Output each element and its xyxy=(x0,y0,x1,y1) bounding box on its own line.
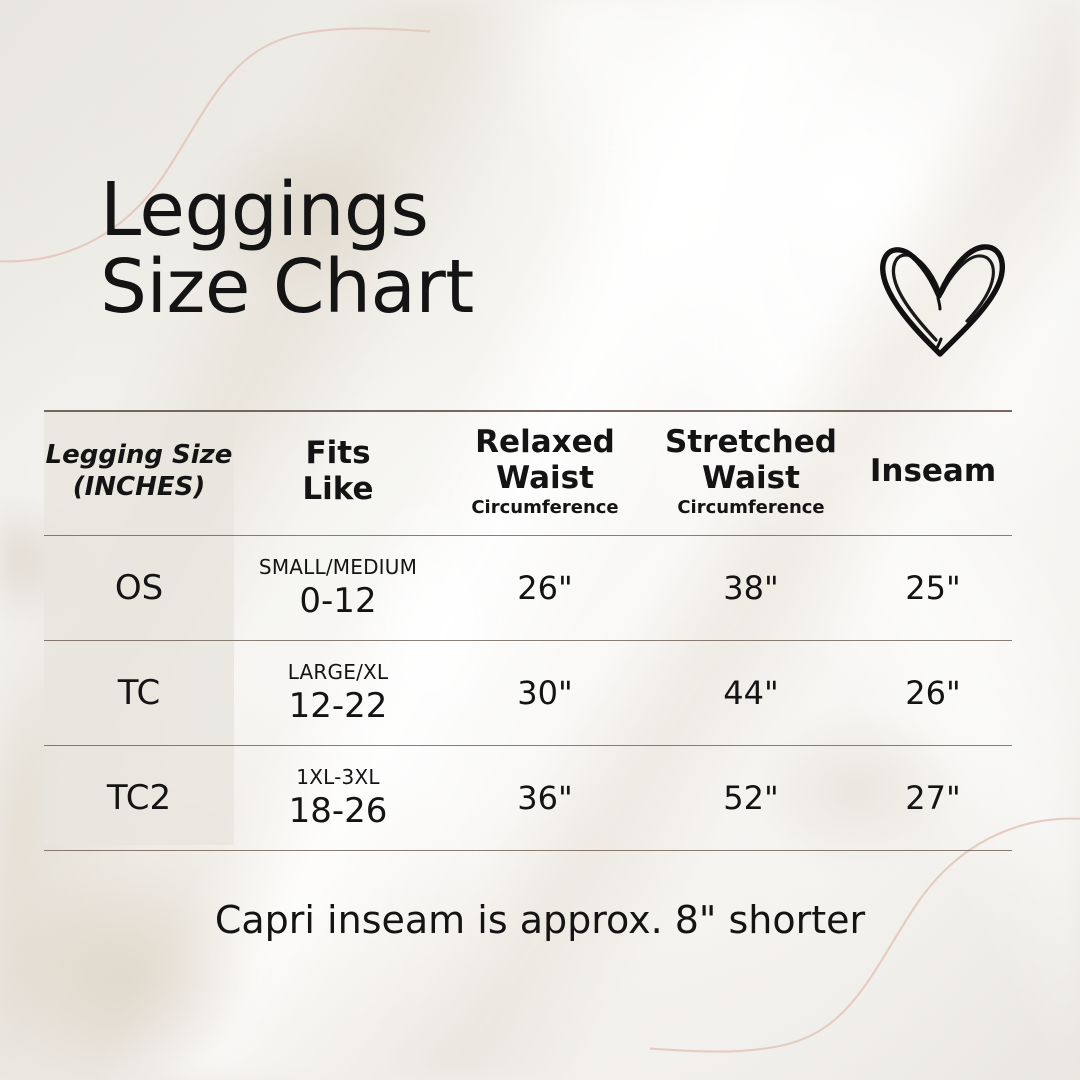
table-rule-bottom xyxy=(44,850,1012,851)
table-row: OS SMALL/MEDIUM 0-12 26" 38" 25" xyxy=(44,536,1012,640)
heart-doodle-icon xyxy=(872,228,1012,364)
fits-like-label: LARGE/XL xyxy=(288,660,389,684)
fits-like-range: 0-12 xyxy=(299,581,376,621)
cell-relaxed-waist: 36" xyxy=(442,746,648,850)
footer-note: Capri inseam is approx. 8" shorter xyxy=(0,898,1080,942)
inseam-value: 25" xyxy=(905,569,960,607)
stretched-waist-value: 52" xyxy=(723,779,778,817)
page-title: Leggings Size Chart xyxy=(100,172,474,326)
header-relaxed-waist-sublabel: Circumference xyxy=(471,497,618,518)
header-legging-size: Legging Size (INCHES) xyxy=(44,412,234,535)
header-relaxed-waist: Relaxed Waist Circumference xyxy=(442,412,648,535)
header-stretched-waist-label: Stretched Waist xyxy=(665,425,837,496)
cell-size: TC2 xyxy=(44,746,234,850)
cell-stretched-waist: 44" xyxy=(648,641,854,745)
header-inseam: Inseam xyxy=(854,412,1012,535)
header-fits-like: Fits Like xyxy=(234,412,442,535)
fits-like-range: 12-22 xyxy=(289,686,388,726)
cell-inseam: 26" xyxy=(854,641,1012,745)
relaxed-waist-value: 30" xyxy=(517,674,572,712)
inseam-value: 26" xyxy=(905,674,960,712)
cell-size: OS xyxy=(44,536,234,640)
size-value: OS xyxy=(115,568,163,608)
cell-relaxed-waist: 26" xyxy=(442,536,648,640)
relaxed-waist-value: 26" xyxy=(517,569,572,607)
header-inseam-label: Inseam xyxy=(870,454,996,489)
table-header-row: Legging Size (INCHES) Fits Like Relaxed … xyxy=(44,412,1012,535)
size-value: TC xyxy=(118,673,161,713)
cell-size: TC xyxy=(44,641,234,745)
fits-like-range: 18-26 xyxy=(289,791,388,831)
header-legging-size-label: Legging Size (INCHES) xyxy=(46,440,233,503)
fits-like-label: 1XL-3XL xyxy=(296,765,379,789)
header-fits-like-label: Fits Like xyxy=(302,436,373,507)
cell-stretched-waist: 38" xyxy=(648,536,854,640)
header-stretched-waist-sublabel: Circumference xyxy=(677,497,824,518)
stretched-waist-value: 38" xyxy=(723,569,778,607)
size-chart-canvas: Leggings Size Chart Legging Size (INCHES… xyxy=(0,0,1080,1080)
cell-relaxed-waist: 30" xyxy=(442,641,648,745)
header-stretched-waist: Stretched Waist Circumference xyxy=(648,412,854,535)
table-row: TC LARGE/XL 12-22 30" 44" 26" xyxy=(44,641,1012,745)
fits-like-label: SMALL/MEDIUM xyxy=(259,555,417,579)
cell-fits-like: 1XL-3XL 18-26 xyxy=(234,746,442,850)
cell-inseam: 27" xyxy=(854,746,1012,850)
header-relaxed-waist-label: Relaxed Waist xyxy=(475,425,615,496)
stretched-waist-value: 44" xyxy=(723,674,778,712)
cell-fits-like: SMALL/MEDIUM 0-12 xyxy=(234,536,442,640)
cell-inseam: 25" xyxy=(854,536,1012,640)
table-row: TC2 1XL-3XL 18-26 36" 52" 27" xyxy=(44,746,1012,850)
inseam-value: 27" xyxy=(905,779,960,817)
size-chart-table: Legging Size (INCHES) Fits Like Relaxed … xyxy=(44,410,1012,851)
cell-fits-like: LARGE/XL 12-22 xyxy=(234,641,442,745)
size-value: TC2 xyxy=(107,778,171,818)
relaxed-waist-value: 36" xyxy=(517,779,572,817)
cell-stretched-waist: 52" xyxy=(648,746,854,850)
